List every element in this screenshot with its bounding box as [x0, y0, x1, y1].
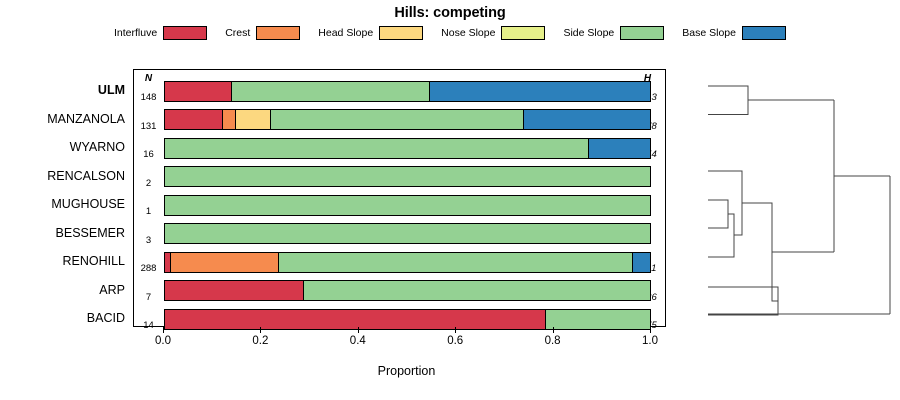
stacked-bar-arp[interactable]: [164, 280, 651, 301]
bar-segment-side-slope[interactable]: [279, 253, 633, 272]
n-value-bacid: 14: [134, 320, 163, 331]
dendro-link-renohill-arp: [708, 287, 778, 315]
bar-segment-side-slope[interactable]: [165, 196, 650, 215]
bar-segment-head-slope[interactable]: [236, 110, 271, 129]
legend-swatch-nose-slope: [501, 26, 545, 40]
bar-segment-side-slope[interactable]: [546, 310, 650, 329]
n-value-arp: 7: [134, 292, 163, 303]
x-axis-tick: [260, 327, 261, 333]
n-value-mughouse: 1: [134, 206, 163, 217]
x-axis-tick: [455, 327, 456, 333]
bar-segment-side-slope[interactable]: [304, 281, 650, 300]
legend-entry-head-slope[interactable]: Head Slope: [318, 26, 423, 40]
stacked-bar-wyarno[interactable]: [164, 138, 651, 159]
stacked-bar-renohill[interactable]: [164, 252, 651, 273]
x-axis-tick-label: 1.0: [642, 335, 658, 347]
x-axis-tick-label: 0.4: [350, 335, 366, 347]
bar-segment-interfluve[interactable]: [165, 82, 232, 101]
legend-swatch-side-slope: [620, 26, 664, 40]
n-value-manzanola: 131: [134, 121, 163, 132]
legend-swatch-crest: [256, 26, 300, 40]
bar-segment-interfluve[interactable]: [165, 281, 304, 300]
bar-segment-base-slope[interactable]: [589, 139, 650, 158]
x-axis-tick-label: 0.0: [155, 335, 171, 347]
dendro-link-ulm-manzanola: [708, 86, 748, 115]
y-axis-labels: ULMMANZANOLAWYARNORENCALSONMUGHOUSEBESSE…: [0, 69, 131, 327]
bar-segment-side-slope[interactable]: [165, 167, 650, 186]
y-axis-label-ulm: ULM: [98, 83, 125, 97]
y-axis-label-arp: ARP: [99, 283, 125, 297]
bar-segment-side-slope[interactable]: [271, 110, 524, 129]
bar-segment-interfluve[interactable]: [165, 110, 223, 129]
stacked-bar-plot-panel: N H 1481.431311.78160.542010302881.1170.…: [133, 69, 666, 327]
legend-label: Crest: [225, 27, 250, 39]
dendro-link-rcmg-bessemer: [708, 214, 734, 257]
legend-swatch-head-slope: [379, 26, 423, 40]
legend-entry-interfluve[interactable]: Interfluve: [114, 26, 207, 40]
x-axis-tick: [650, 327, 651, 333]
legend-entry-crest[interactable]: Crest: [225, 26, 300, 40]
y-axis-label-mughouse: MUGHOUSE: [51, 197, 125, 211]
x-axis: 0.00.20.40.60.81.0: [163, 327, 650, 328]
legend-entry-side-slope[interactable]: Side Slope: [563, 26, 664, 40]
x-axis-tick: [553, 327, 554, 333]
dendrogram: [666, 65, 900, 331]
legend-entry-base-slope[interactable]: Base Slope: [682, 26, 786, 40]
legend: InterfluveCrestHead SlopeNose SlopeSide …: [0, 26, 900, 40]
x-axis-tick: [358, 327, 359, 333]
x-axis-tick-label: 0.6: [447, 335, 463, 347]
stacked-bar-ulm[interactable]: [164, 81, 651, 102]
bar-segment-base-slope[interactable]: [430, 82, 650, 101]
n-value-rencalson: 2: [134, 178, 163, 189]
legend-label: Head Slope: [318, 27, 373, 39]
legend-label: Side Slope: [563, 27, 614, 39]
x-axis-tick-label: 0.2: [252, 335, 268, 347]
n-value-wyarno: 16: [134, 149, 163, 160]
bar-segment-side-slope[interactable]: [232, 82, 430, 101]
legend-swatch-interfluve: [163, 26, 207, 40]
y-axis-label-renohill: RENOHILL: [62, 254, 125, 268]
bar-segment-side-slope[interactable]: [165, 224, 650, 243]
dendro-link-wyarno-cluster: [708, 171, 742, 235]
n-column-header: N: [134, 73, 163, 84]
legend-label: Interfluve: [114, 27, 157, 39]
stacked-bar-rencalson[interactable]: [164, 166, 651, 187]
bar-segment-side-slope[interactable]: [165, 139, 589, 158]
bar-segment-base-slope[interactable]: [633, 253, 650, 272]
bar-segment-base-slope[interactable]: [524, 110, 650, 129]
y-axis-label-bacid: BACID: [87, 311, 125, 325]
stacked-bar-mughouse[interactable]: [164, 195, 651, 216]
y-axis-label-manzanola: MANZANOLA: [47, 112, 125, 126]
page-title: Hills: competing: [0, 5, 900, 21]
n-value-ulm: 148: [134, 92, 163, 103]
dendro-link-rencalson-mughouse: [708, 200, 728, 228]
x-axis-tick: [163, 327, 164, 333]
legend-label: Base Slope: [682, 27, 736, 39]
bar-segment-interfluve[interactable]: [165, 310, 546, 329]
legend-label: Nose Slope: [441, 27, 495, 39]
y-axis-label-bessemer: BESSEMER: [56, 226, 125, 240]
x-axis-tick-label: 0.8: [545, 335, 561, 347]
stacked-bar-manzanola[interactable]: [164, 109, 651, 130]
bar-segment-crest[interactable]: [171, 253, 280, 272]
legend-swatch-base-slope: [742, 26, 786, 40]
stacked-bar-bessemer[interactable]: [164, 223, 651, 244]
dendrogram-svg: [666, 65, 900, 331]
legend-entry-nose-slope[interactable]: Nose Slope: [441, 26, 545, 40]
bar-segment-crest[interactable]: [223, 110, 236, 129]
y-axis-label-wyarno: WYARNO: [70, 140, 125, 154]
n-value-bessemer: 3: [134, 235, 163, 246]
n-value-renohill: 288: [134, 263, 163, 274]
x-axis-title: Proportion: [163, 364, 650, 378]
y-axis-label-rencalson: RENCALSON: [47, 169, 125, 183]
